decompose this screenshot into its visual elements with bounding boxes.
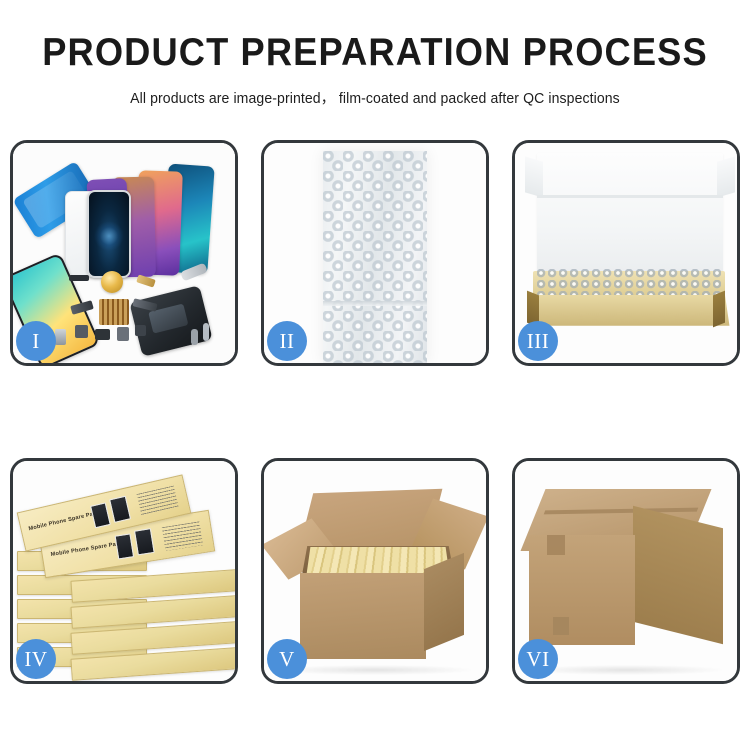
box-label-screen-image (134, 528, 155, 555)
step-card-3: III (512, 140, 740, 366)
step-badge-1: I (16, 321, 56, 361)
step-badge-4: IV (16, 639, 56, 679)
sealed-carton-front-icon (529, 535, 635, 645)
step-card-6: VI (512, 458, 740, 684)
bubble-wrap-pouch-icon (323, 151, 427, 363)
step-card-5: V (261, 458, 489, 684)
carton-front-panel-icon (300, 573, 426, 659)
process-steps-grid: I II III (10, 140, 740, 684)
box-label-screen-image (115, 533, 135, 559)
spare-part-icon (95, 329, 110, 340)
step-badge-6: VI (518, 639, 558, 679)
chip-grid-part-icon (99, 299, 129, 325)
step-card-1: I (10, 140, 238, 366)
step-card-4: Mobile Phone Spare Parts Mobile Phone Sp… (10, 458, 238, 684)
spare-part-icon (135, 325, 146, 336)
phone-black-glass-icon (87, 190, 131, 278)
box-label-text: Mobile Phone Spare Parts (28, 510, 101, 532)
carton-side-panel-icon (424, 553, 464, 651)
box-label-screen-image (90, 502, 111, 528)
carton-tape-icon (553, 617, 569, 635)
spare-part-icon (117, 327, 129, 341)
step-badge-2: II (267, 321, 307, 361)
product-preparation-infographic: PRODUCT PREPARATION PROCESS All products… (0, 0, 750, 750)
page-title: PRODUCT PREPARATION PROCESS (26, 33, 724, 74)
step-card-2: II (261, 140, 489, 366)
step-badge-5: V (267, 639, 307, 679)
box-label-screen-image (109, 496, 131, 523)
spare-part-icon (75, 325, 88, 338)
sealed-carton-side-icon (633, 506, 723, 644)
screw-part-icon (203, 323, 209, 341)
carton-tape-icon (547, 535, 565, 555)
screw-part-icon (191, 329, 198, 345)
spare-part-icon (69, 275, 89, 281)
step-badge-3: III (518, 321, 558, 361)
gold-coil-part-icon (101, 271, 123, 293)
white-box-lid-icon (537, 153, 723, 283)
spare-part-icon (55, 329, 66, 345)
page-subtitle: All products are image-printed， film-coa… (11, 87, 739, 108)
header: PRODUCT PREPARATION PROCESS All products… (0, 0, 750, 108)
